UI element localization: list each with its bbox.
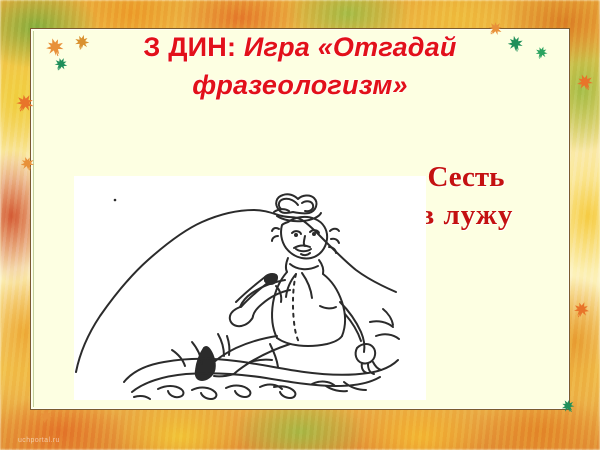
title-prefix: З ДИН: <box>143 32 236 62</box>
title-main: Игра «Отгадай <box>244 32 457 62</box>
illustration-image <box>74 176 426 400</box>
slide-canvas: З ДИН: Игра «Отгадай фразеологизм» Сесть… <box>0 0 600 450</box>
title-line2: фразеологизм» <box>192 70 408 100</box>
illustration-drawing <box>74 176 426 400</box>
slide-title: З ДИН: Игра «Отгадай фразеологизм» <box>40 28 560 105</box>
watermark-text: uchportal.ru <box>18 437 60 444</box>
